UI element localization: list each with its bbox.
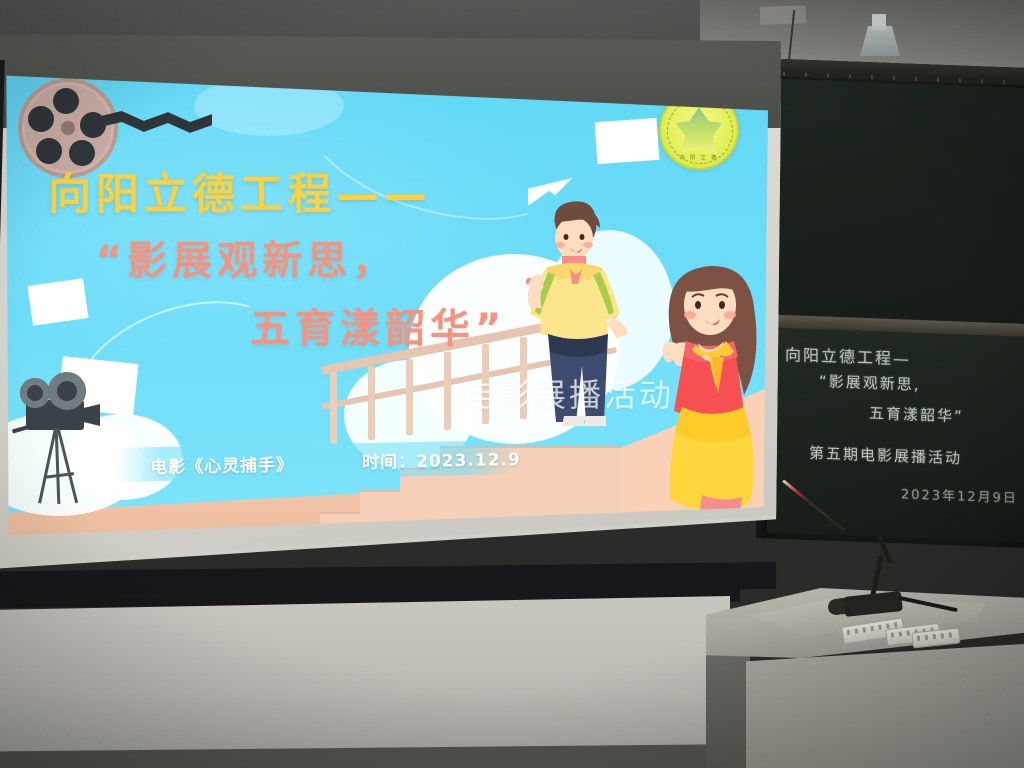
classroom-scene: 向阳立德工程— “影展观新思, 五育漾韶华” 第五期电影展播活动 2023年12… [0, 0, 1024, 768]
movie-camera-icon [12, 370, 108, 500]
remote-control[interactable] [911, 628, 960, 649]
slide-film-title: 电影《心灵捕手》 [150, 450, 294, 478]
chalk-line-2: “影展观新思, [819, 370, 921, 395]
slide-title-line-3: 五育漾韶华” [250, 296, 506, 354]
slide-title-line-1: 向阳立德工程—— [48, 160, 432, 222]
blackboard-panel-upper[interactable] [767, 78, 1024, 323]
chalk-line-3: 五育漾韶华” [869, 402, 964, 426]
badge-bottom-text: 向 阳 立 德 [661, 154, 737, 161]
ceiling-bracket [760, 5, 807, 25]
podium-front-panel [746, 644, 1024, 768]
teacher-podium[interactable] [706, 560, 1024, 768]
chalk-line-1: 向阳立德工程— [785, 341, 911, 370]
slide-title-line-2: “影展观新思， [96, 228, 397, 286]
slide-watermark: 电影展播活动 [464, 370, 674, 416]
dove-icon [595, 118, 660, 164]
lower-wall [0, 596, 730, 768]
slide-event-time: 时间：2023.12.9 [362, 445, 521, 473]
dove-icon [27, 278, 88, 325]
projected-slide: 江苏省南通市通州区金沙中学 向 阳 立 德 [4, 70, 768, 540]
blackboard: 向阳立德工程— “影展观新思, 五育漾韶华” 第五期电影展播活动 2023年12… [756, 58, 1024, 548]
